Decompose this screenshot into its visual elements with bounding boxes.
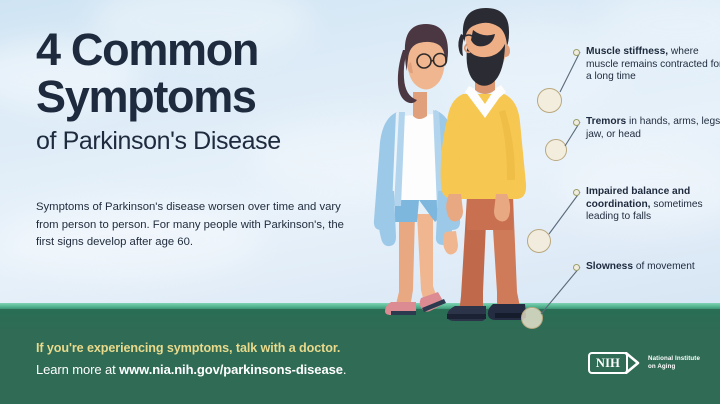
callout-dot-icon	[573, 119, 580, 126]
headline-subtitle: of Parkinson's Disease	[36, 127, 376, 155]
callout-anchor-impaired-balance	[527, 229, 551, 253]
callout-dot-icon	[573, 49, 580, 56]
nih-logo: NIH National Institute on Aging	[588, 352, 700, 374]
intro-paragraph: Symptoms of Parkinson's disease worsen o…	[36, 199, 356, 252]
nih-logo-box: NIH	[588, 352, 628, 374]
footer-learn-more-prefix: Learn more at	[36, 362, 119, 377]
headline-line-1: 4 Common	[36, 26, 376, 73]
callout-tremors: Tremors in hands, arms, legs, jaw, or he…	[586, 116, 720, 141]
couple-illustration	[355, 0, 585, 340]
callout-slowness: Slowness of movement	[586, 261, 720, 274]
callout-lead: Muscle stiffness,	[586, 46, 668, 57]
headline-line-2: Symptoms	[36, 73, 376, 120]
callout-lead: Tremors	[586, 116, 626, 127]
callout-dot-icon	[573, 264, 580, 271]
nih-logo-name-line-2: on Aging	[648, 363, 700, 371]
callout-anchor-muscle-stiffness	[537, 88, 562, 113]
footer-learn-more: Learn more at www.nia.nih.gov/parkinsons…	[36, 362, 346, 377]
nih-logo-letters: NIH	[596, 356, 620, 371]
callout-dot-icon	[573, 189, 580, 196]
callout-anchor-tremors	[545, 139, 567, 161]
callout-muscle-stiffness: Muscle stiffness, where muscle remains c…	[586, 46, 720, 84]
footer-cta-text: If you're experiencing symptoms, talk wi…	[36, 341, 340, 355]
nih-logo-mark: NIH	[588, 352, 642, 374]
headline-block: 4 Common Symptoms of Parkinson's Disease	[36, 26, 376, 155]
callout-anchor-slowness	[521, 307, 543, 329]
callout-rest: of movement	[633, 261, 695, 272]
chevron-right-icon	[624, 352, 642, 374]
footer-learn-more-suffix: .	[343, 362, 347, 377]
footer-url-link[interactable]: www.nia.nih.gov/parkinsons-disease	[119, 362, 343, 377]
infographic-poster: 4 Common Symptoms of Parkinson's Disease…	[0, 0, 720, 404]
callout-lead: Slowness	[586, 261, 633, 272]
nih-logo-name-line-1: National Institute	[648, 355, 700, 363]
callout-impaired-balance: Impaired balance and coordination, somet…	[586, 186, 720, 224]
nih-logo-name: National Institute on Aging	[648, 355, 700, 371]
